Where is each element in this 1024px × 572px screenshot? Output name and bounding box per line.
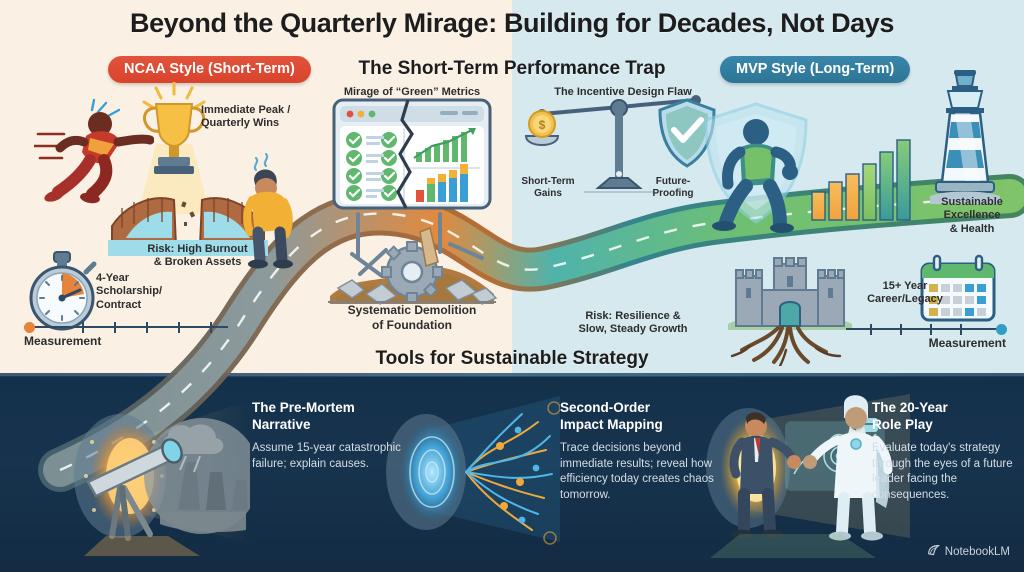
caption-line: Scholarship/ bbox=[96, 285, 162, 297]
caption-systematic-demolition: Systematic Demolition of Foundation bbox=[322, 303, 502, 332]
tool-title-line: The Pre-Mortem bbox=[252, 400, 355, 415]
band-divider bbox=[0, 373, 1024, 377]
measurement-label-left: Measurement bbox=[24, 334, 101, 348]
caption-line: & Health bbox=[950, 223, 995, 235]
caption-incentive-flaw: The Incentive Design Flaw bbox=[528, 86, 718, 99]
measurement-axis-right: Measurement bbox=[846, 328, 1006, 329]
caption-line: & Broken Assets bbox=[154, 256, 242, 268]
caption-line: Gains bbox=[534, 188, 562, 199]
lighthouse-icon bbox=[926, 64, 1004, 210]
caption-line: The Incentive Design Flaw bbox=[554, 86, 692, 98]
growth-bar-chart bbox=[810, 136, 914, 222]
tool-title-line: Second-Order bbox=[560, 400, 650, 415]
caption-line: Risk: Resilience & bbox=[585, 310, 680, 322]
caption-line: Systematic Demolition bbox=[348, 303, 477, 317]
measurement-end-dot bbox=[996, 324, 1007, 335]
notebooklm-watermark: NotebookLM bbox=[927, 544, 1010, 560]
pre-mortem-illustration bbox=[50, 384, 250, 560]
caption-line: Quarterly Wins bbox=[201, 117, 279, 129]
tool-title-line: The 20-Year bbox=[872, 400, 948, 415]
caption-risk-burnout: Risk: High Burnout & Broken Assets bbox=[110, 243, 285, 270]
page-title: Beyond the Quarterly Mirage: Building fo… bbox=[0, 8, 1024, 39]
tool-card-role-play: The 20-Year Role Play Evaluate today's s… bbox=[872, 400, 1020, 504]
measurement-axis-left: Measurement bbox=[24, 326, 228, 327]
caption-line: of Foundation bbox=[372, 318, 452, 332]
caption-line: Mirage of “Green” Metrics bbox=[344, 86, 480, 98]
measurement-start-dot bbox=[24, 322, 35, 333]
demolition-rubble-icon bbox=[322, 210, 502, 306]
heading-performance-trap: The Short-Term Performance Trap bbox=[0, 58, 1024, 80]
infographic-canvas: Beyond the Quarterly Mirage: Building fo… bbox=[0, 0, 1024, 572]
caption-immediate-peak: Immediate Peak / Quarterly Wins bbox=[201, 104, 290, 131]
tool-description: Assume 15-year catastrophic failure; exp… bbox=[252, 441, 427, 473]
tool-title: The 20-Year Role Play bbox=[872, 400, 1020, 434]
measurement-label-right: Measurement bbox=[929, 336, 1006, 350]
caption-sustainable-excellence: Sustainable Excellence & Health bbox=[922, 196, 1022, 236]
notebooklm-glyph-icon bbox=[927, 544, 940, 560]
tool-title: The Pre-Mortem Narrative bbox=[252, 400, 427, 434]
tool-card-pre-mortem: The Pre-Mortem Narrative Assume 15-year … bbox=[252, 400, 427, 472]
tool-card-impact-mapping: Second-Order Impact Mapping Trace decisi… bbox=[560, 400, 735, 504]
caption-line: 4-Year bbox=[96, 272, 129, 284]
caption-line: Slow, Steady Growth bbox=[579, 323, 688, 335]
caption-line: Career/Legacy bbox=[867, 293, 943, 305]
tool-title: Second-Order Impact Mapping bbox=[560, 400, 735, 434]
caption-line: Immediate Peak / bbox=[201, 104, 290, 116]
tool-description: Evaluate today's strategy through the ey… bbox=[872, 441, 1020, 504]
caption-short-term-gains: Short-Term Gains bbox=[508, 176, 588, 200]
heading-tools: Tools for Sustainable Strategy bbox=[0, 348, 1024, 370]
caption-line: Excellence bbox=[944, 209, 1001, 221]
caption-4-year-contract: 4-Year Scholarship/ Contract bbox=[96, 272, 162, 312]
tool-title-line: Narrative bbox=[252, 417, 311, 432]
caption-line: Contract bbox=[96, 299, 141, 311]
tool-title-line: Role Play bbox=[872, 417, 933, 432]
tool-description: Trace decisions beyond immediate results… bbox=[560, 441, 735, 504]
svg-text:$: $ bbox=[539, 118, 546, 132]
notebooklm-label: NotebookLM bbox=[945, 546, 1010, 558]
caption-line: Proofing bbox=[652, 188, 693, 199]
caption-line: Future- bbox=[656, 176, 690, 187]
caption-line: Short-Term bbox=[521, 176, 574, 187]
caption-line: Sustainable bbox=[941, 196, 1003, 208]
stopwatch-icon bbox=[24, 250, 100, 332]
caption-career-legacy: 15+ Year Career/Legacy bbox=[855, 280, 955, 307]
castle-roots-icon bbox=[720, 254, 860, 366]
caption-resilience-growth: Risk: Resilience & Slow, Steady Growth bbox=[538, 310, 728, 337]
resilient-athlete-icon bbox=[700, 100, 818, 240]
caption-line: 15+ Year bbox=[883, 280, 928, 292]
tool-title-line: Impact Mapping bbox=[560, 417, 663, 432]
caption-future-proofing: Future- Proofing bbox=[636, 176, 710, 200]
metrics-dashboard-icon bbox=[332, 98, 492, 218]
caption-line: Risk: High Burnout bbox=[147, 243, 247, 255]
caption-mirage-metrics: Mirage of “Green” Metrics bbox=[322, 86, 502, 99]
